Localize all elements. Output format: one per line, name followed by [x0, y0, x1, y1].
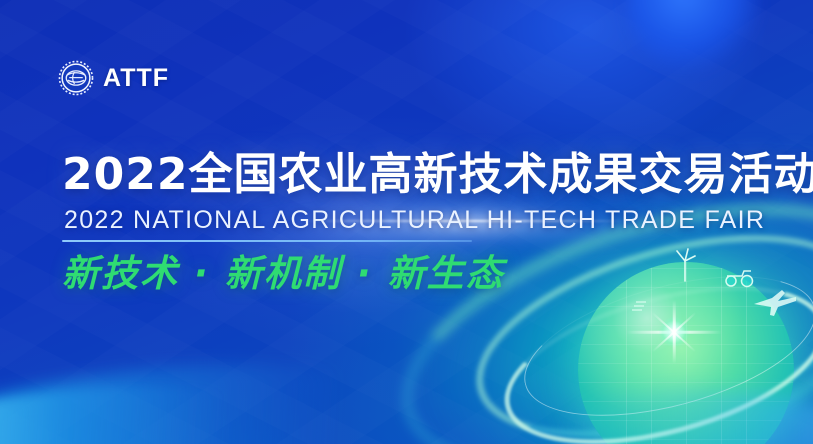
page-subtitle-english: 2022 NATIONAL AGRICULTURAL HI-TECH TRADE…: [64, 206, 765, 235]
logo-text: ATTF: [103, 66, 169, 91]
event-banner: ATTF 2022全国农业高新技术成果交易活动 2022 NATIONAL AG…: [0, 0, 813, 444]
banner-content: ATTF 2022全国农业高新技术成果交易活动 2022 NATIONAL AG…: [0, 0, 813, 444]
page-title: 2022全国农业高新技术成果交易活动: [62, 152, 813, 198]
title-divider: [62, 240, 472, 242]
attf-gear-emblem-icon: [58, 60, 94, 96]
organization-logo: ATTF: [58, 60, 169, 96]
tagline: 新技术 · 新机制 · 新生态: [62, 252, 505, 296]
